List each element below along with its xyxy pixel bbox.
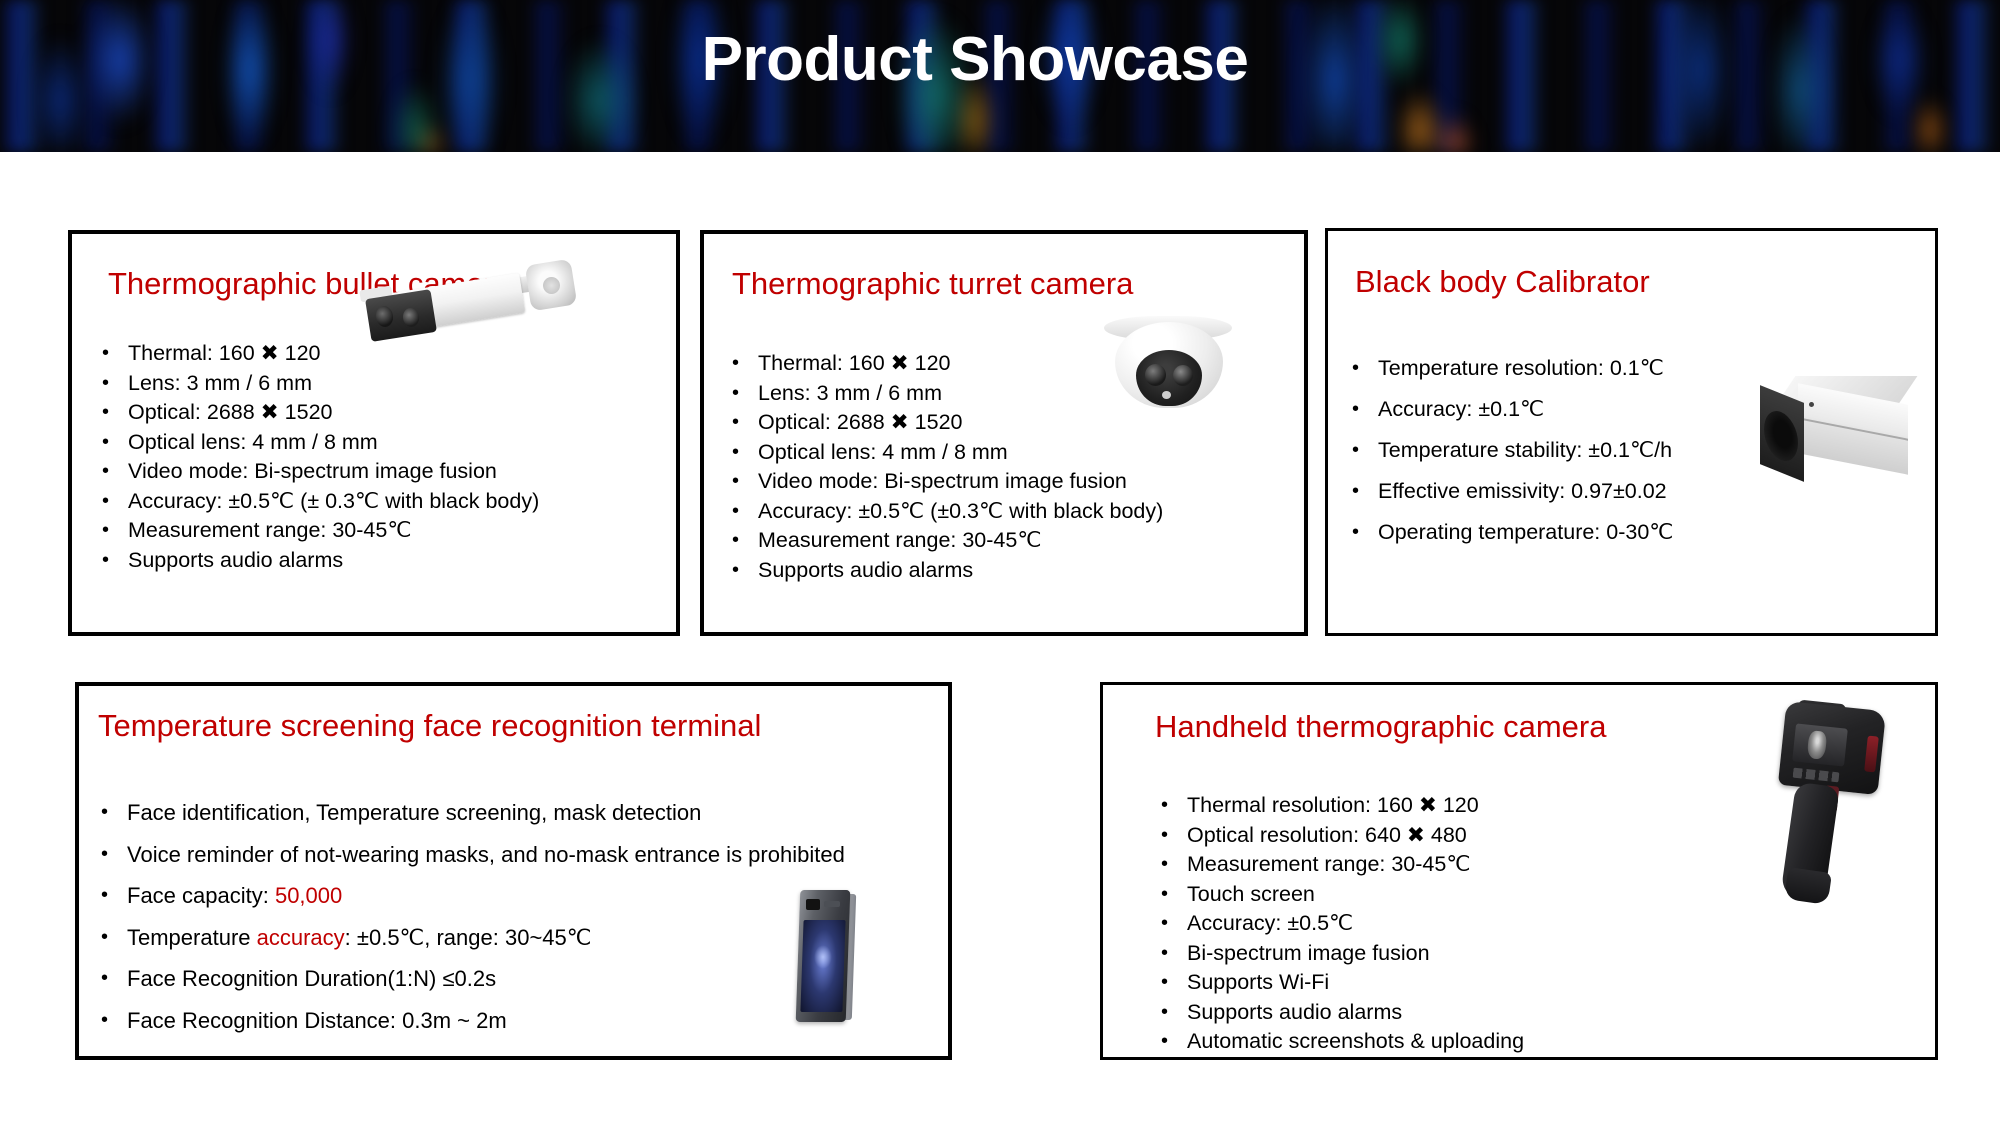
list-item: Accuracy: ±0.1℃ [1342,389,1673,430]
list-item: Video mode: Bi-spectrum image fusion [722,467,1163,497]
list-item: Temperature accuracy: ±0.5℃, range: 30~4… [91,917,845,959]
black-body-calibrator-image [1752,372,1932,492]
list-item: Supports audio alarms [1151,998,1524,1028]
list-item: Measurement range: 30-45℃ [722,526,1163,556]
list-item: Measurement range: 30-45℃ [1151,850,1524,880]
list-item: Supports audio alarms [722,556,1163,586]
list-item-highlight: accuracy [257,925,345,950]
card-title-black-body-calibrator: Black body Calibrator [1355,264,1650,300]
face-recognition-terminal-image [788,890,868,1026]
card-title-turret-camera: Thermographic turret camera [732,266,1133,302]
product-card-turret-camera: Thermographic turret camera Thermal: 160… [700,230,1308,636]
list-item: Face capacity: 50,000 [91,875,845,917]
card-title-handheld-camera: Handheld thermographic camera [1155,709,1606,745]
list-item: Touch screen [1151,880,1524,910]
list-item: Accuracy: ±0.5℃ (± 0.3℃ with black body) [92,487,539,517]
list-item: Measurement range: 30-45℃ [92,516,539,546]
list-item: Video mode: Bi-spectrum image fusion [92,457,539,487]
card-title-face-recognition-terminal: Temperature screening face recognition t… [98,708,761,744]
list-item: Supports audio alarms [92,546,539,576]
list-item: Automatic screenshots & uploading [1151,1027,1524,1057]
spec-list-face-recognition-terminal: Face identification, Temperature screeni… [91,792,845,1041]
list-item-label: Face capacity: [127,883,275,908]
list-item: Lens: 3 mm / 6 mm [92,369,539,399]
thermographic-turret-camera-image [1098,312,1248,432]
list-item: Optical resolution: 640 ✖ 480 [1151,821,1524,851]
spec-list-handheld-camera: Thermal resolution: 160 ✖ 120 Optical re… [1151,791,1524,1057]
list-item: Effective emissivity: 0.97±0.02 [1342,471,1673,512]
thermographic-bullet-camera-image [360,258,590,358]
list-item: Face Recognition Duration(1:N) ≤0.2s [91,958,845,1000]
list-item: Optical lens: 4 mm / 8 mm [722,438,1163,468]
list-item: Face Recognition Distance: 0.3m ~ 2m [91,1000,845,1042]
spec-list-black-body-calibrator: Temperature resolution: 0.1℃ Accuracy: ±… [1342,348,1673,553]
list-item: Accuracy: ±0.5℃ (±0.3℃ with black body) [722,497,1163,527]
list-item: Accuracy: ±0.5℃ [1151,909,1524,939]
list-item: Operating temperature: 0-30℃ [1342,512,1673,553]
spec-list-bullet-camera: Thermal: 160 ✖ 120 Lens: 3 mm / 6 mm Opt… [92,339,539,575]
page-header-banner: Product Showcase [0,0,2000,152]
list-item: Temperature resolution: 0.1℃ [1342,348,1673,389]
handheld-thermographic-camera-image [1760,702,1900,912]
list-item: Supports Wi-Fi [1151,968,1524,998]
list-item: Bi-spectrum image fusion [1151,939,1524,969]
list-item: Optical lens: 4 mm / 8 mm [92,428,539,458]
list-item: Voice reminder of not-wearing masks, and… [91,834,845,876]
list-item-value: 50,000 [275,883,342,908]
list-item: Optical: 2688 ✖ 1520 [92,398,539,428]
list-item-value: : ±0.5℃, range: 30~45℃ [345,925,592,950]
page-title: Product Showcase [0,26,1950,94]
list-item-label: Temperature [127,925,257,950]
list-item: Thermal resolution: 160 ✖ 120 [1151,791,1524,821]
list-item: Face identification, Temperature screeni… [91,792,845,834]
list-item: Temperature stability: ±0.1℃/h [1342,430,1673,471]
